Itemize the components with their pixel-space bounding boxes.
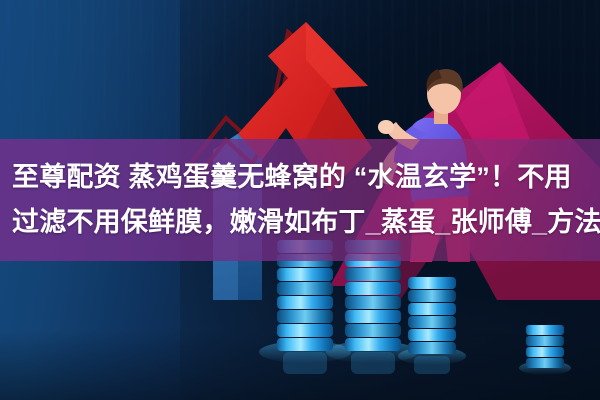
caption-line-1: 至尊配资 蒸鸡蛋羹无蜂窝的 “水温玄学”！不用 (12, 155, 588, 200)
coin-stack-far-right (526, 325, 564, 368)
caption-line-2: 过滤不用保鲜膜，嫩滑如布丁_蒸蛋_张师傅_方法 (12, 200, 588, 245)
coin-stack-right (408, 277, 456, 354)
thumbnail-canvas: 至尊配资 蒸鸡蛋羹无蜂窝的 “水温玄学”！不用 过滤不用保鲜膜，嫩滑如布丁_蒸蛋… (0, 0, 600, 400)
caption-text-block: 至尊配资 蒸鸡蛋羹无蜂窝的 “水温玄学”！不用 过滤不用保鲜膜，嫩滑如布丁_蒸蛋… (0, 139, 600, 261)
